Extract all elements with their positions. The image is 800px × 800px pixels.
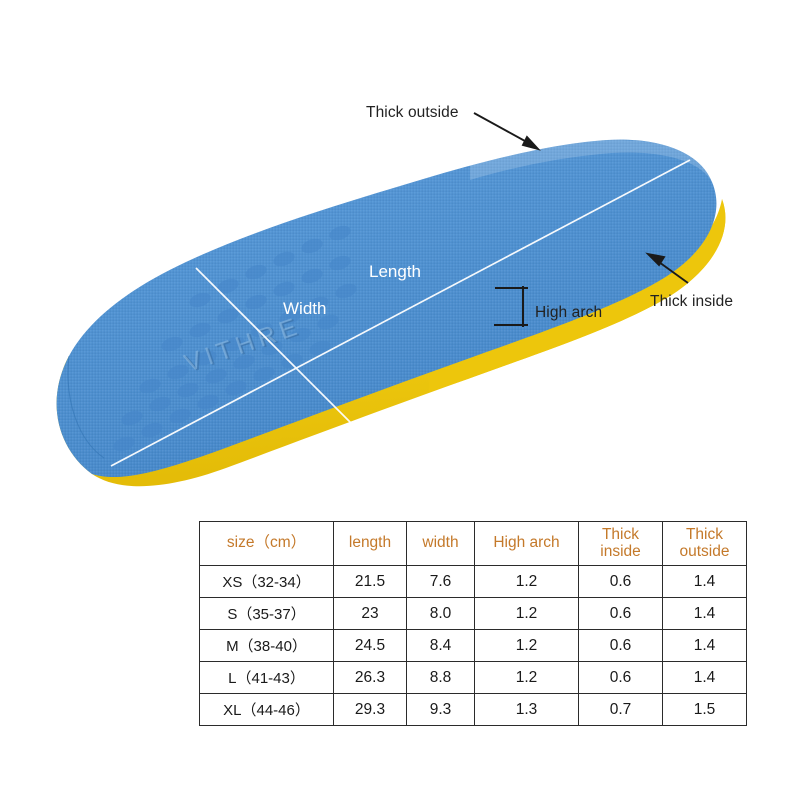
size-table-header: size（cm） length width High arch Thick in… <box>200 522 747 566</box>
col-header-high-arch: High arch <box>475 522 579 566</box>
cell-length: 21.5 <box>334 566 407 598</box>
cell-length: 24.5 <box>334 630 407 662</box>
dimension-label-length: Length <box>369 262 421 282</box>
insole-product-image: VITHRE VITHRE <box>0 0 800 520</box>
col-header-width: width <box>407 522 475 566</box>
annotation-thick-inside: Thick inside <box>650 293 733 311</box>
table-row: S（35-37） 23 8.0 1.2 0.6 1.4 <box>200 598 747 630</box>
col-header-thick-outside: Thick outside <box>663 522 747 566</box>
cell-size: S（35-37） <box>200 598 334 630</box>
col-header-length: length <box>334 522 407 566</box>
cell-thick-inside: 0.6 <box>579 598 663 630</box>
table-header-row: size（cm） length width High arch Thick in… <box>200 522 747 566</box>
cell-width: 8.0 <box>407 598 475 630</box>
col-header-high-arch-line1: High arch <box>477 535 576 551</box>
col-header-thick-outside-line2: outside <box>665 544 744 560</box>
annotation-high-arch: High arch <box>535 304 602 322</box>
annotation-thick-outside: Thick outside <box>366 104 459 122</box>
cell-length: 29.3 <box>334 694 407 726</box>
cell-size: M（38-40） <box>200 630 334 662</box>
cell-high-arch: 1.2 <box>475 598 579 630</box>
cell-width: 7.6 <box>407 566 475 598</box>
thick-outside-arrowhead <box>523 137 538 149</box>
cell-high-arch: 1.2 <box>475 662 579 694</box>
cell-size: XL（44-46） <box>200 694 334 726</box>
col-header-width-line1: width <box>409 535 472 551</box>
table-row: M（38-40） 24.5 8.4 1.2 0.6 1.4 <box>200 630 747 662</box>
insole-illustration: VITHRE VITHRE <box>0 0 800 520</box>
cell-thick-outside: 1.4 <box>663 630 747 662</box>
col-header-length-line1: length <box>336 535 404 551</box>
cell-thick-outside: 1.4 <box>663 566 747 598</box>
page-root: VITHRE VITHRE <box>0 0 800 800</box>
cell-high-arch: 1.2 <box>475 566 579 598</box>
cell-length: 26.3 <box>334 662 407 694</box>
cell-width: 9.3 <box>407 694 475 726</box>
table-row: XS（32-34） 21.5 7.6 1.2 0.6 1.4 <box>200 566 747 598</box>
size-chart: size（cm） length width High arch Thick in… <box>199 521 746 726</box>
col-header-thick-inside: Thick inside <box>579 522 663 566</box>
cell-size: XS（32-34） <box>200 566 334 598</box>
cell-thick-inside: 0.6 <box>579 566 663 598</box>
col-header-size: size（cm） <box>200 522 334 566</box>
cell-thick-outside: 1.4 <box>663 662 747 694</box>
cell-length: 23 <box>334 598 407 630</box>
cell-size: L（41-43） <box>200 662 334 694</box>
table-row: L（41-43） 26.3 8.8 1.2 0.6 1.4 <box>200 662 747 694</box>
col-header-thick-inside-line1: Thick <box>581 527 660 543</box>
cell-width: 8.4 <box>407 630 475 662</box>
table-row: XL（44-46） 29.3 9.3 1.3 0.7 1.5 <box>200 694 747 726</box>
cell-high-arch: 1.3 <box>475 694 579 726</box>
col-header-thick-outside-line1: Thick <box>665 527 744 543</box>
cell-thick-inside: 0.7 <box>579 694 663 726</box>
cell-thick-inside: 0.6 <box>579 630 663 662</box>
cell-thick-outside: 1.4 <box>663 598 747 630</box>
dimension-label-width: Width <box>283 299 326 319</box>
cell-high-arch: 1.2 <box>475 630 579 662</box>
cell-thick-outside: 1.5 <box>663 694 747 726</box>
col-header-size-line1: size（cm） <box>202 535 331 551</box>
col-header-thick-inside-line2: inside <box>581 544 660 560</box>
size-table: size（cm） length width High arch Thick in… <box>199 521 747 726</box>
cell-width: 8.8 <box>407 662 475 694</box>
insole-top-layer-blue: VITHRE VITHRE <box>0 0 800 520</box>
cell-thick-inside: 0.6 <box>579 662 663 694</box>
size-table-body: XS（32-34） 21.5 7.6 1.2 0.6 1.4 S（35-37） … <box>200 566 747 726</box>
